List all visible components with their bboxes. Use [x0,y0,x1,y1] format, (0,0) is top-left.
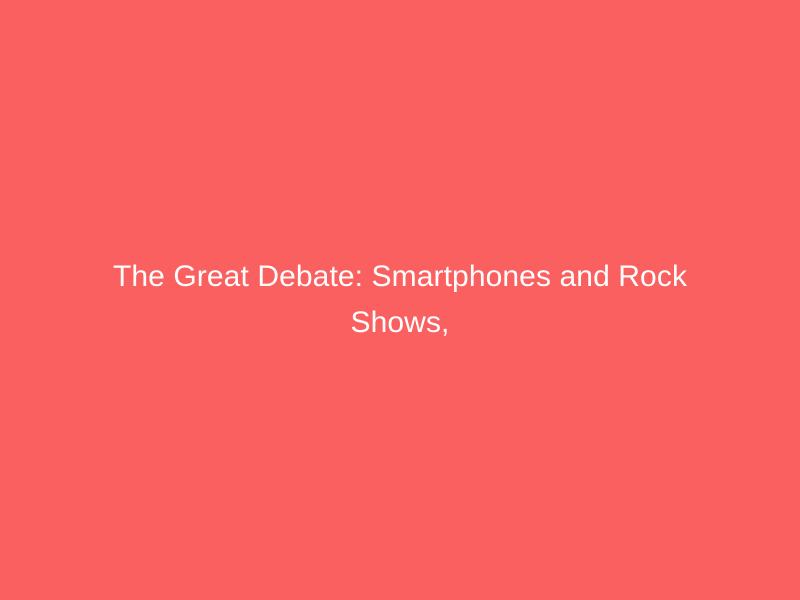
placeholder-card: The Great Debate: Smartphones and Rock S… [0,0,800,600]
page-title: The Great Debate: Smartphones and Rock S… [80,254,720,346]
title-block: The Great Debate: Smartphones and Rock S… [80,254,720,346]
